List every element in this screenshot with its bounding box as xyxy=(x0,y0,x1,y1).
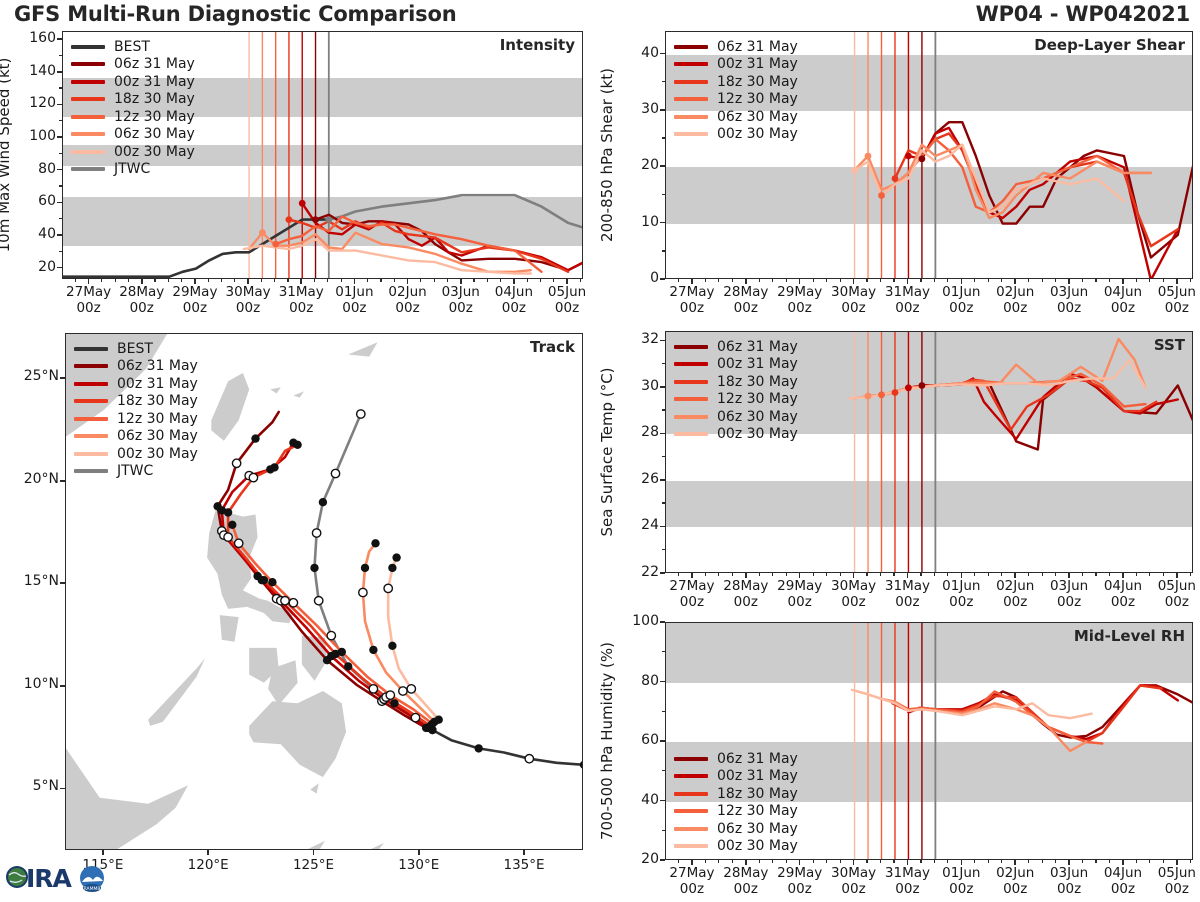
panel-title-sst: SST xyxy=(1154,336,1185,354)
x-minor-tick xyxy=(947,279,948,282)
x-tick-mark xyxy=(853,573,855,578)
x-minor-tick xyxy=(947,860,948,863)
x-minor-tick xyxy=(678,860,679,863)
legend-swatch xyxy=(674,774,708,778)
y-minor-tick xyxy=(59,234,62,235)
x-tick-mark xyxy=(961,279,963,284)
legend-swatch xyxy=(71,150,105,154)
x-tick-mark xyxy=(691,860,693,865)
legend-item: 06z 31 May xyxy=(71,56,195,74)
map-x-tick-mark xyxy=(313,850,315,855)
x-minor-tick xyxy=(1028,279,1029,282)
legend-item: BEST xyxy=(74,340,198,358)
y-tick-label: 100 xyxy=(617,613,659,629)
x-tick-mark xyxy=(1176,860,1178,865)
legend-swatch xyxy=(71,62,105,66)
x-tick-hour: 00z xyxy=(533,300,601,316)
track-marker xyxy=(251,434,259,442)
y-minor-tick xyxy=(662,740,665,741)
x-tick-mark xyxy=(853,860,855,865)
legend-track: BEST06z 31 May00z 31 May18z 30 May12z 30… xyxy=(74,340,198,480)
y-minor-tick xyxy=(662,409,665,410)
track-marker xyxy=(249,473,257,481)
x-minor-tick xyxy=(974,573,975,576)
track-marker xyxy=(232,459,240,467)
x-minor-tick xyxy=(168,279,169,282)
track-marker xyxy=(359,588,367,596)
y-minor-tick xyxy=(662,549,665,550)
x-tick-mark xyxy=(745,573,747,578)
x-minor-tick xyxy=(893,860,894,863)
legend-item: JTWC xyxy=(71,161,195,179)
y-tick-label: 40 xyxy=(14,226,56,242)
legend-swatch xyxy=(674,415,708,419)
series-line xyxy=(857,691,1086,751)
track-marker xyxy=(390,699,398,707)
x-minor-tick xyxy=(473,279,474,282)
legend-label: 00z 30 May xyxy=(114,144,195,160)
x-minor-tick xyxy=(759,860,760,863)
x-tick-label: 05Jun00z xyxy=(1143,865,1200,897)
figure-root: GFS Multi-Run Diagnostic Comparison WP04… xyxy=(0,0,1200,900)
track-marker xyxy=(369,646,377,654)
x-tick-mark xyxy=(1014,860,1016,865)
legend-shear: 06z 31 May00z 31 May18z 30 May12z 30 May… xyxy=(674,38,798,143)
track-marker xyxy=(392,553,400,561)
y-minor-tick xyxy=(662,621,665,622)
legend-label: 12z 30 May xyxy=(114,109,195,125)
x-tick-mark xyxy=(691,279,693,284)
map-y-tick-label: 20°N xyxy=(3,471,59,487)
x-minor-tick xyxy=(947,573,948,576)
panel-rh: Mid-Level RH06z 31 May00z 31 May18z 30 M… xyxy=(665,622,1193,860)
x-minor-tick xyxy=(1055,573,1056,576)
track-marker xyxy=(315,597,323,605)
x-minor-tick xyxy=(759,573,760,576)
x-minor-tick xyxy=(1190,860,1191,863)
track-marker xyxy=(435,716,443,724)
legend-item: 00z 31 May xyxy=(674,56,798,74)
legend-item: 00z 30 May xyxy=(674,126,798,144)
legend-label: 00z 30 May xyxy=(117,446,198,462)
y-minor-tick xyxy=(59,185,62,186)
x-minor-tick xyxy=(314,279,315,282)
y-minor-tick xyxy=(662,770,665,771)
x-minor-tick xyxy=(341,279,342,282)
legend-label: 18z 30 May xyxy=(114,91,195,107)
legend-item: 00z 31 May xyxy=(674,356,798,374)
y-tick-label: 60 xyxy=(14,193,56,209)
x-minor-tick xyxy=(732,573,733,576)
track-marker xyxy=(411,713,419,721)
legend-label: 00z 30 May xyxy=(717,126,798,142)
x-minor-tick xyxy=(786,573,787,576)
x-tick-hour: 00z xyxy=(1143,881,1200,897)
legend-swatch xyxy=(74,452,108,456)
track-marker xyxy=(260,576,268,584)
svg-text:IRA: IRA xyxy=(26,864,73,893)
x-tick-date: 05Jun xyxy=(1143,578,1200,594)
map-y-tick-mark xyxy=(60,685,65,687)
legend-item: JTWC xyxy=(74,463,198,481)
y-tick-label: 80 xyxy=(14,161,56,177)
y-axis-label-sst: Sea Surface Temp (°C) xyxy=(598,367,616,536)
y-minor-tick xyxy=(59,87,62,88)
track-marker xyxy=(228,521,236,529)
x-minor-tick xyxy=(705,573,706,576)
y-tick-label: 10 xyxy=(617,214,659,230)
x-minor-tick xyxy=(880,279,881,282)
x-minor-tick xyxy=(1055,860,1056,863)
x-minor-tick xyxy=(880,573,881,576)
legend-item: 06z 30 May xyxy=(71,126,195,144)
x-tick-mark xyxy=(300,279,302,284)
x-minor-tick xyxy=(934,279,935,282)
x-minor-tick xyxy=(1095,279,1096,282)
track-marker xyxy=(371,539,379,547)
x-minor-tick xyxy=(1136,279,1137,282)
map-y-tick-mark xyxy=(60,788,65,790)
legend-swatch xyxy=(674,380,708,384)
track-marker xyxy=(293,441,301,449)
y-minor-tick xyxy=(59,169,62,170)
x-minor-tick xyxy=(866,573,867,576)
track-marker xyxy=(224,508,232,516)
x-minor-tick xyxy=(880,860,881,863)
legend-swatch xyxy=(674,62,708,66)
legend-label: 06z 31 May xyxy=(717,39,798,55)
x-minor-tick xyxy=(540,279,541,282)
x-tick-mark xyxy=(88,279,90,284)
x-minor-tick xyxy=(718,860,719,863)
legend-item: 18z 30 May xyxy=(674,785,798,803)
x-minor-tick xyxy=(1028,573,1029,576)
x-tick-mark xyxy=(1068,573,1070,578)
legend-item: 18z 30 May xyxy=(71,91,195,109)
y-tick-label: 26 xyxy=(617,471,659,487)
x-tick-mark xyxy=(799,573,801,578)
x-tick-mark xyxy=(691,573,693,578)
x-minor-tick xyxy=(866,279,867,282)
y-minor-tick xyxy=(662,53,665,54)
legend-swatch xyxy=(74,417,108,421)
x-minor-tick xyxy=(553,279,554,282)
map-x-tick-mark xyxy=(523,850,525,855)
x-minor-tick xyxy=(1001,279,1002,282)
x-tick-date: 05Jun xyxy=(1143,865,1200,881)
x-tick-mark xyxy=(853,279,855,284)
x-minor-tick xyxy=(813,279,814,282)
x-minor-tick xyxy=(1136,573,1137,576)
x-tick-mark xyxy=(1122,279,1124,284)
x-minor-tick xyxy=(380,279,381,282)
legend-item: 00z 30 May xyxy=(674,838,798,856)
x-minor-tick xyxy=(1042,573,1043,576)
x-minor-tick xyxy=(920,860,921,863)
x-minor-tick xyxy=(1042,279,1043,282)
x-minor-tick xyxy=(813,573,814,576)
cira-logo: IRA RAMMB xyxy=(4,856,114,898)
y-tick-label: 30 xyxy=(617,378,659,394)
x-minor-tick xyxy=(678,279,679,282)
legend-swatch xyxy=(74,347,108,351)
x-minor-tick xyxy=(974,860,975,863)
legend-label: 18z 30 May xyxy=(717,374,798,390)
x-minor-tick xyxy=(893,573,894,576)
track-marker xyxy=(399,687,407,695)
y-minor-tick xyxy=(662,194,665,195)
x-minor-tick xyxy=(826,860,827,863)
x-minor-tick xyxy=(893,279,894,282)
x-minor-tick xyxy=(840,860,841,863)
track-marker xyxy=(270,463,278,471)
y-minor-tick xyxy=(59,104,62,105)
x-minor-tick xyxy=(500,279,501,282)
legend-item: 00z 30 May xyxy=(674,426,798,444)
y-tick-label: 80 xyxy=(617,673,659,689)
track-marker xyxy=(388,642,396,650)
x-tick-mark xyxy=(1176,279,1178,284)
legend-label: 06z 30 May xyxy=(114,126,195,142)
legend-label: 00z 30 May xyxy=(717,426,798,442)
x-tick-mark xyxy=(907,279,909,284)
legend-label: 00z 31 May xyxy=(117,376,198,392)
x-minor-tick xyxy=(1082,573,1083,576)
x-minor-tick xyxy=(1163,860,1164,863)
x-minor-tick xyxy=(1163,573,1164,576)
y-tick-label: 40 xyxy=(617,45,659,61)
legend-label: 12z 30 May xyxy=(717,803,798,819)
legend-label: BEST xyxy=(117,341,153,357)
y-minor-tick xyxy=(662,137,665,138)
legend-item: 12z 30 May xyxy=(674,803,798,821)
x-minor-tick xyxy=(274,279,275,282)
track-marker xyxy=(312,529,320,537)
legend-item: 12z 30 May xyxy=(674,391,798,409)
panel-title-intensity: Intensity xyxy=(500,36,575,54)
legend-label: 06z 30 May xyxy=(717,821,798,837)
legend-label: 00z 30 May xyxy=(717,838,798,854)
legend-swatch xyxy=(74,382,108,386)
x-minor-tick xyxy=(154,279,155,282)
panel-title-track: Track xyxy=(530,338,575,356)
y-axis-label-rh: 700-500 hPa Humidity (%) xyxy=(598,642,616,840)
legend-swatch xyxy=(74,364,108,368)
x-minor-tick xyxy=(826,573,827,576)
x-minor-tick xyxy=(101,279,102,282)
x-minor-tick xyxy=(974,279,975,282)
x-minor-tick xyxy=(181,279,182,282)
y-minor-tick xyxy=(662,456,665,457)
x-minor-tick xyxy=(772,860,773,863)
y-minor-tick xyxy=(662,681,665,682)
legend-label: 06z 31 May xyxy=(717,339,798,355)
legend-swatch xyxy=(674,345,708,349)
map-x-tick-label: 130°E xyxy=(379,857,459,873)
track-marker xyxy=(224,533,232,541)
x-minor-tick xyxy=(75,279,76,282)
x-minor-tick xyxy=(1109,573,1110,576)
track-marker xyxy=(384,584,392,592)
x-tick-mark xyxy=(460,279,462,284)
x-minor-tick xyxy=(580,279,581,282)
x-tick-mark xyxy=(1068,860,1070,865)
x-tick-mark xyxy=(1122,573,1124,578)
y-tick-label: 160 xyxy=(14,30,56,46)
x-minor-tick xyxy=(678,573,679,576)
legend-swatch xyxy=(674,432,708,436)
x-minor-tick xyxy=(394,279,395,282)
x-tick-mark xyxy=(907,860,909,865)
x-minor-tick xyxy=(261,279,262,282)
track-marker xyxy=(310,564,318,572)
x-minor-tick xyxy=(786,279,787,282)
series-line xyxy=(852,690,1092,718)
y-minor-tick xyxy=(662,572,665,573)
x-tick-label: 05Jun00z xyxy=(1143,578,1200,610)
track-marker xyxy=(344,662,352,670)
legend-label: 00z 31 May xyxy=(114,74,195,90)
x-minor-tick xyxy=(1028,860,1029,863)
map-x-tick-label: 135°E xyxy=(484,857,564,873)
x-tick-mark xyxy=(1176,573,1178,578)
legend-label: JTWC xyxy=(117,463,153,479)
x-minor-tick xyxy=(934,573,935,576)
x-minor-tick xyxy=(1095,860,1096,863)
x-minor-tick xyxy=(840,279,841,282)
map-x-tick-mark xyxy=(418,850,420,855)
svg-text:RAMMB: RAMMB xyxy=(84,886,101,892)
x-minor-tick xyxy=(1163,279,1164,282)
legend-label: JTWC xyxy=(114,161,150,177)
x-minor-tick xyxy=(1001,573,1002,576)
x-minor-tick xyxy=(527,279,528,282)
legend-label: 06z 30 May xyxy=(117,428,198,444)
x-tick-mark xyxy=(141,279,143,284)
y-minor-tick xyxy=(662,433,665,434)
panel-title-shear: Deep-Layer Shear xyxy=(1034,36,1185,54)
y-minor-tick xyxy=(662,651,665,652)
x-minor-tick xyxy=(705,860,706,863)
x-minor-tick xyxy=(732,860,733,863)
x-tick-mark xyxy=(513,279,515,284)
legend-swatch xyxy=(674,80,708,84)
legend-item: 06z 30 May xyxy=(674,820,798,838)
track-marker xyxy=(281,597,289,605)
legend-label: 06z 31 May xyxy=(717,751,798,767)
legend-label: 12z 30 May xyxy=(117,411,198,427)
x-tick-mark xyxy=(1122,860,1124,865)
y-minor-tick xyxy=(59,55,62,56)
legend-item: 06z 30 May xyxy=(74,428,198,446)
track-marker xyxy=(331,469,339,477)
x-minor-tick xyxy=(988,860,989,863)
x-minor-tick xyxy=(920,573,921,576)
x-minor-tick xyxy=(705,279,706,282)
y-minor-tick xyxy=(662,222,665,223)
x-minor-tick xyxy=(920,279,921,282)
x-tick-mark xyxy=(1068,279,1070,284)
x-minor-tick xyxy=(732,279,733,282)
y-minor-tick xyxy=(59,136,62,137)
y-minor-tick xyxy=(59,251,62,252)
legend-item: 00z 30 May xyxy=(74,445,198,463)
legend-swatch xyxy=(674,809,708,813)
legend-label: 12z 30 May xyxy=(717,391,798,407)
x-tick-mark xyxy=(961,573,963,578)
y-minor-tick xyxy=(662,250,665,251)
x-minor-tick xyxy=(1082,279,1083,282)
x-minor-tick xyxy=(115,279,116,282)
x-tick-mark xyxy=(566,279,568,284)
legend-swatch xyxy=(674,132,708,136)
x-minor-tick xyxy=(1082,860,1083,863)
legend-swatch xyxy=(674,97,708,101)
y-tick-label: 32 xyxy=(617,331,659,347)
y-minor-tick xyxy=(59,38,62,39)
y-minor-tick xyxy=(662,800,665,801)
legend-label: 00z 31 May xyxy=(717,356,798,372)
legend-item: 06z 31 May xyxy=(674,338,798,356)
x-tick-mark xyxy=(407,279,409,284)
y-minor-tick xyxy=(662,479,665,480)
x-tick-mark xyxy=(194,279,196,284)
legend-swatch xyxy=(674,757,708,761)
x-tick-mark xyxy=(907,573,909,578)
track-marker xyxy=(361,564,369,572)
legend-item: 00z 31 May xyxy=(71,73,195,91)
x-minor-tick xyxy=(434,279,435,282)
x-minor-tick xyxy=(988,279,989,282)
x-tick-mark xyxy=(799,860,801,865)
legend-label: BEST xyxy=(114,39,150,55)
y-tick-label: 20 xyxy=(617,157,659,173)
map-x-tick-mark xyxy=(102,850,104,855)
x-minor-tick xyxy=(1136,860,1137,863)
x-minor-tick xyxy=(866,860,867,863)
map-x-tick-label: 120°E xyxy=(168,857,248,873)
legend-label: 18z 30 May xyxy=(717,74,798,90)
x-tick-label: 05Jun00z xyxy=(1143,284,1200,316)
legend-intensity: BEST06z 31 May00z 31 May18z 30 May12z 30… xyxy=(71,38,195,178)
legend-swatch xyxy=(674,45,708,49)
y-minor-tick xyxy=(59,218,62,219)
x-minor-tick xyxy=(1190,573,1191,576)
x-tick-mark xyxy=(745,279,747,284)
legend-swatch xyxy=(674,792,708,796)
legend-item: 06z 30 May xyxy=(674,408,798,426)
x-minor-tick xyxy=(420,279,421,282)
x-minor-tick xyxy=(128,279,129,282)
legend-label: 18z 30 May xyxy=(117,393,198,409)
x-tick-mark xyxy=(354,279,356,284)
x-minor-tick xyxy=(1042,860,1043,863)
panel-title-rh: Mid-Level RH xyxy=(1074,627,1185,645)
legend-swatch xyxy=(674,115,708,119)
x-minor-tick xyxy=(759,279,760,282)
map-y-tick-label: 5°N xyxy=(3,778,59,794)
panel-shear: Deep-Layer Shear06z 31 May00z 31 May18z … xyxy=(665,31,1193,279)
map-y-tick-mark xyxy=(60,582,65,584)
legend-swatch xyxy=(674,397,708,401)
x-minor-tick xyxy=(221,279,222,282)
legend-swatch xyxy=(71,115,105,119)
y-minor-tick xyxy=(59,267,62,268)
legend-swatch xyxy=(74,399,108,403)
x-minor-tick xyxy=(447,279,448,282)
legend-swatch xyxy=(674,844,708,848)
x-tick-mark xyxy=(1014,573,1016,578)
